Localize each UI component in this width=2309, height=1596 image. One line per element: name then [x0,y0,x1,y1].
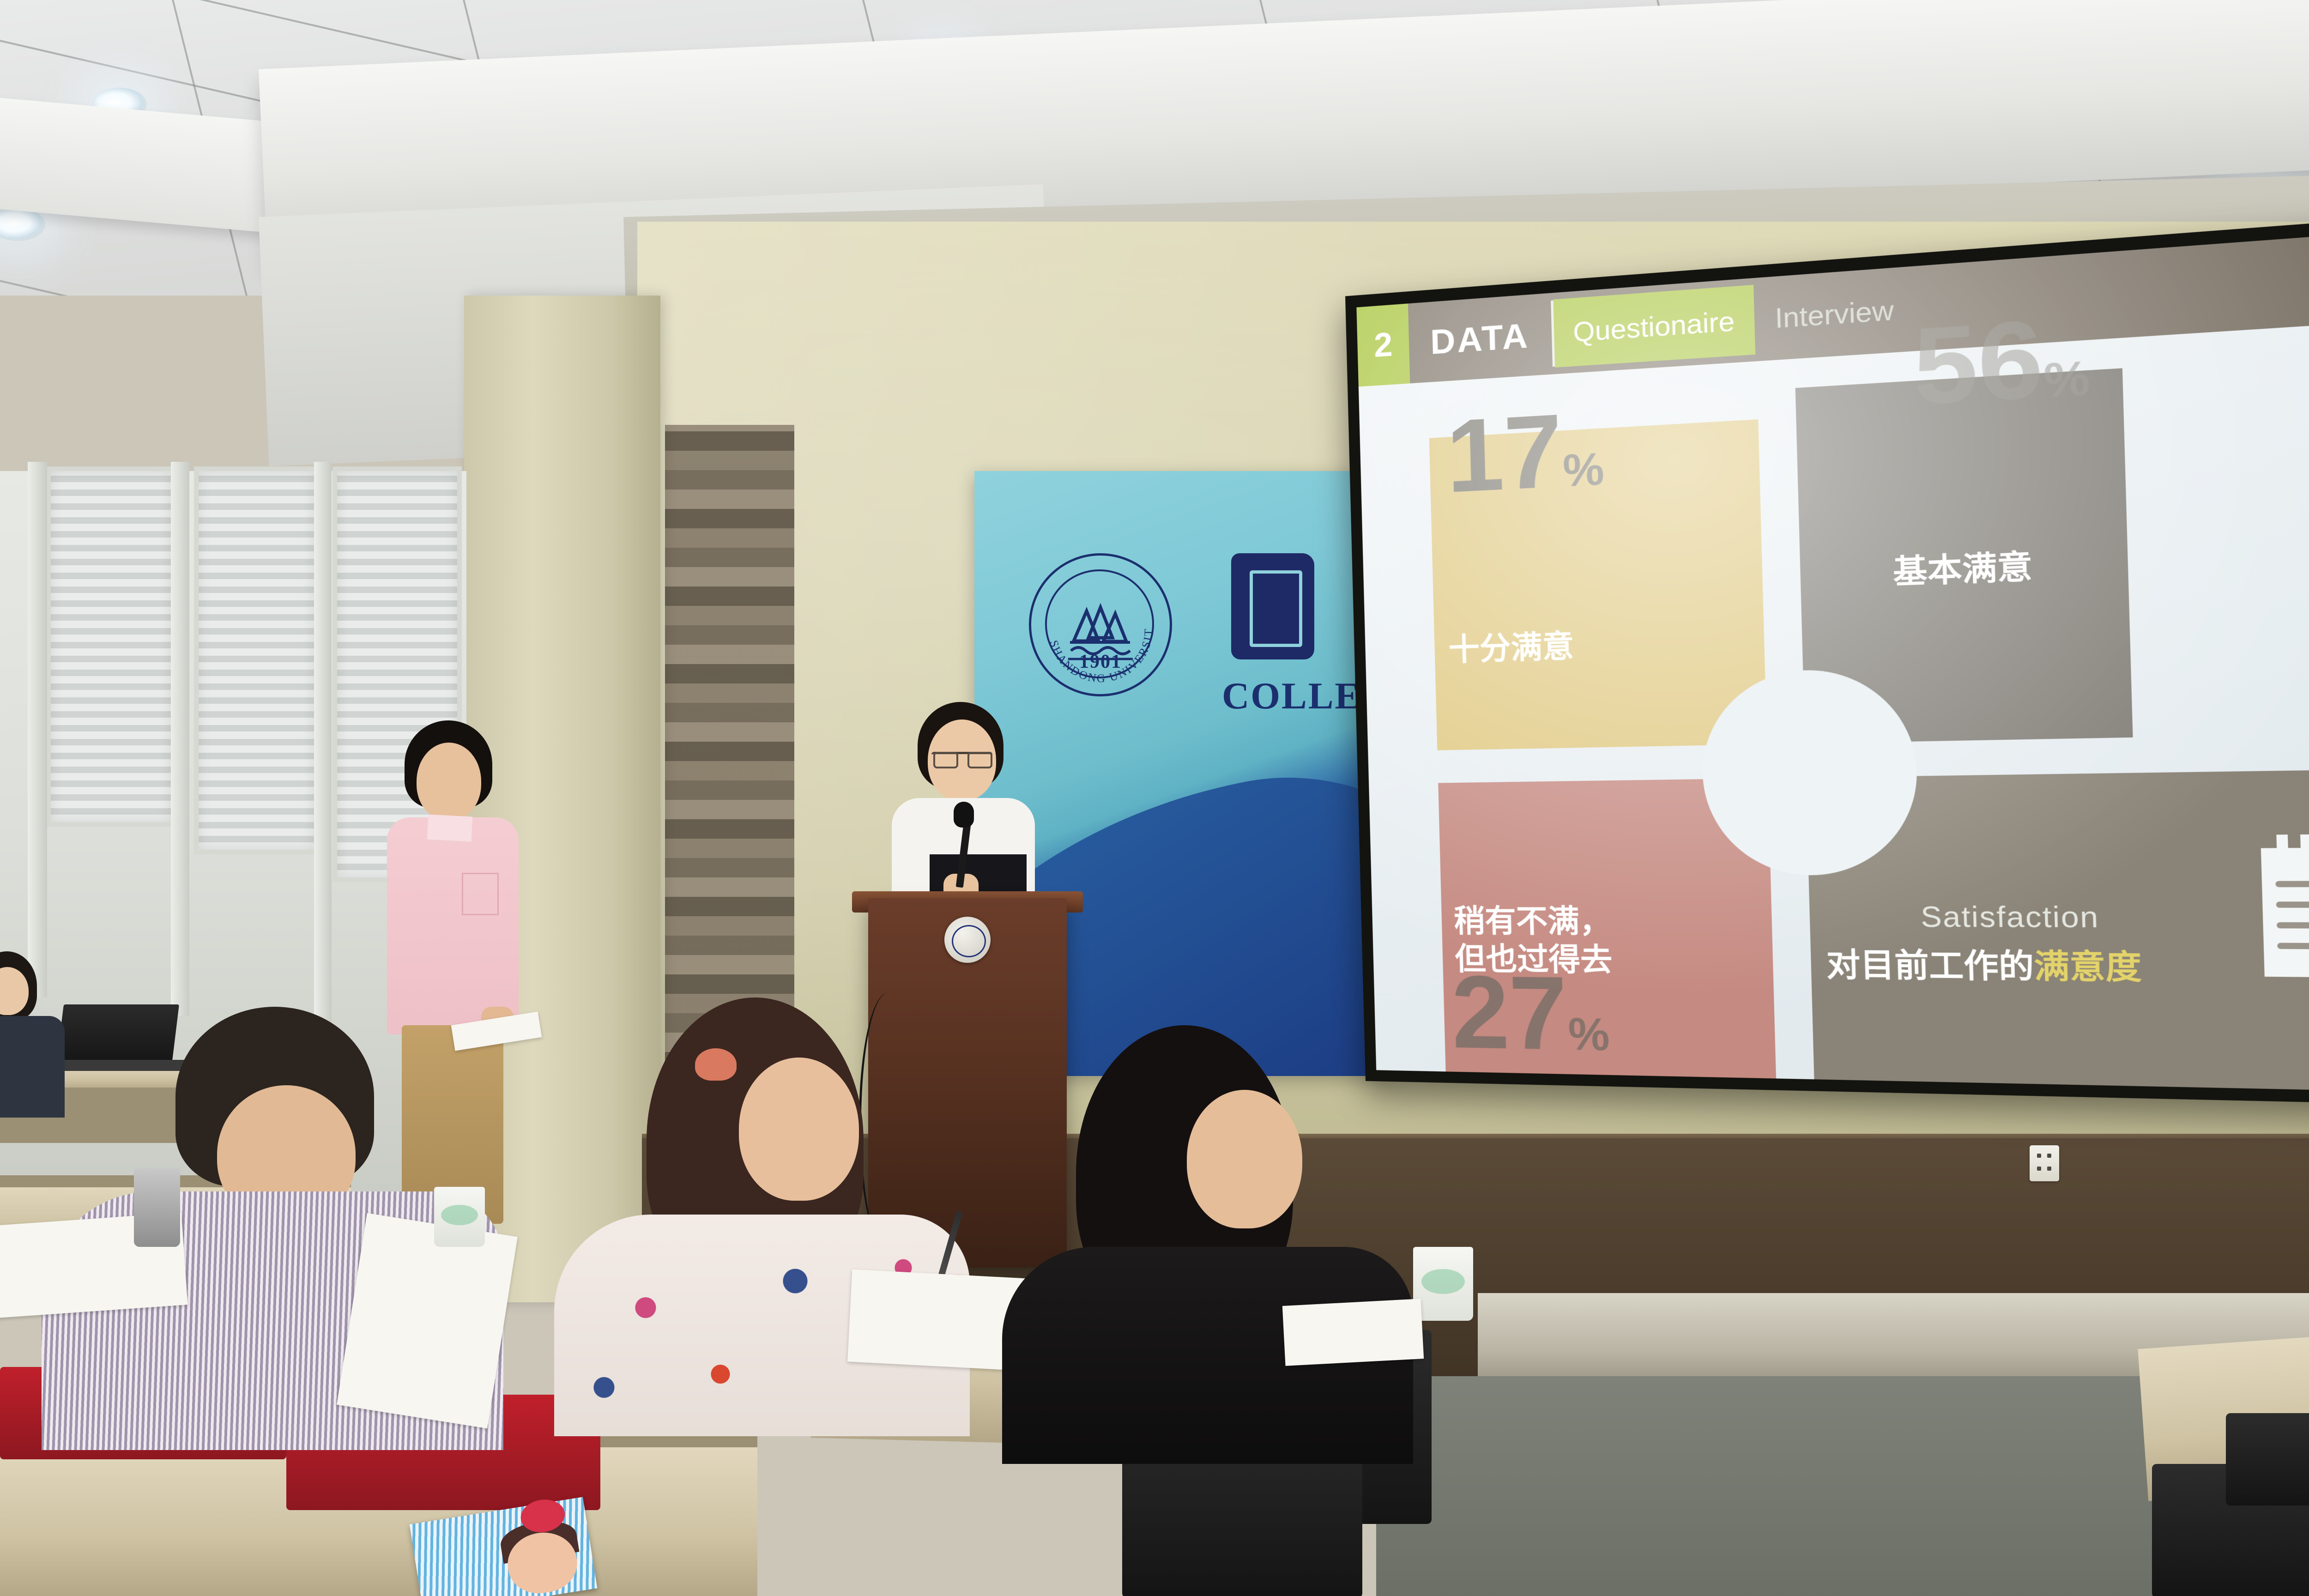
assistant-pocket [462,873,499,915]
paper-cup[interactable] [434,1187,485,1247]
hair-clip-icon [695,1048,737,1081]
slide-section-title: DATA [1408,293,1553,384]
tab-interview[interactable]: Interview [1753,266,1916,361]
caption-chinese-highlight: 满意度 [2033,948,2142,986]
slide-body: 17% 十分满意 56% 基本满意 稍有不满， 但也过得去 27% [1359,314,2309,1094]
presenter-glasses-lens [933,752,958,768]
value-slight-dissatisfied: 27% [1451,970,1610,1057]
value-very-satisfied: 17% [1445,405,1605,499]
chair-black[interactable] [2226,1413,2309,1505]
caption-english: Satisfaction [1920,900,2099,934]
shandong-university-seal-icon: 1901 SHANDONG UNIVERSITY [1029,553,1172,696]
quadrant-very-satisfied: 17% 十分满意 [1429,419,1767,750]
window-mullion [171,462,189,1016]
audience-man-papers [337,1213,518,1428]
window-mullion [314,462,332,1039]
caption-chinese: 对目前工作的满意度 [1825,939,2142,989]
glass-pane [194,466,319,854]
label-basic-satisfied: 基本满意 [1892,546,2033,592]
assistant-head [417,743,481,820]
audience-black-head [1187,1090,1302,1228]
thermos[interactable] [134,1168,180,1247]
svg-text:SHANDONG UNIVERSITY: SHANDONG UNIVERSITY [1031,556,1155,685]
tab-questionaire[interactable]: Questionaire [1553,285,1756,368]
paper-cup[interactable] [1413,1247,1473,1321]
microphone-head [954,802,974,828]
presenter-person [889,702,1041,914]
caption-chinese-plain: 对目前工作的 [1826,947,2035,985]
projection-screen-frame: 2 DATA Questionaire Interview 17% 十分满意 5… [1345,208,2309,1107]
label-very-satisfied: 十分满意 [1448,627,1574,668]
wall-power-outlet-icon [2030,1145,2059,1181]
glass-pane [46,466,175,827]
chop-seal-icon [1231,553,1314,659]
window-mullion [28,462,47,997]
notepad-icon [2261,847,2309,978]
podium-emblem-icon [944,917,991,963]
right-desk-notes [1282,1299,1424,1366]
assistant-collar [427,815,473,842]
assistant-shirt [387,817,519,1034]
conference-room-scene: 1901 SHANDONG UNIVERSITY COLLEGE 2 DATA … [0,0,2309,1596]
value-basic-satisfied: 56% [1912,311,2091,411]
slide-section-number: 2 [1356,303,1410,387]
projection-screen: 2 DATA Questionaire Interview 17% 十分满意 5… [1356,223,2309,1094]
audience-floral-head [739,1058,859,1201]
audience-black-top-person [988,1025,1432,1441]
presenter-glasses-lens [967,752,992,768]
seal-arc-text: SHANDONG UNIVERSITY [1031,556,1170,694]
